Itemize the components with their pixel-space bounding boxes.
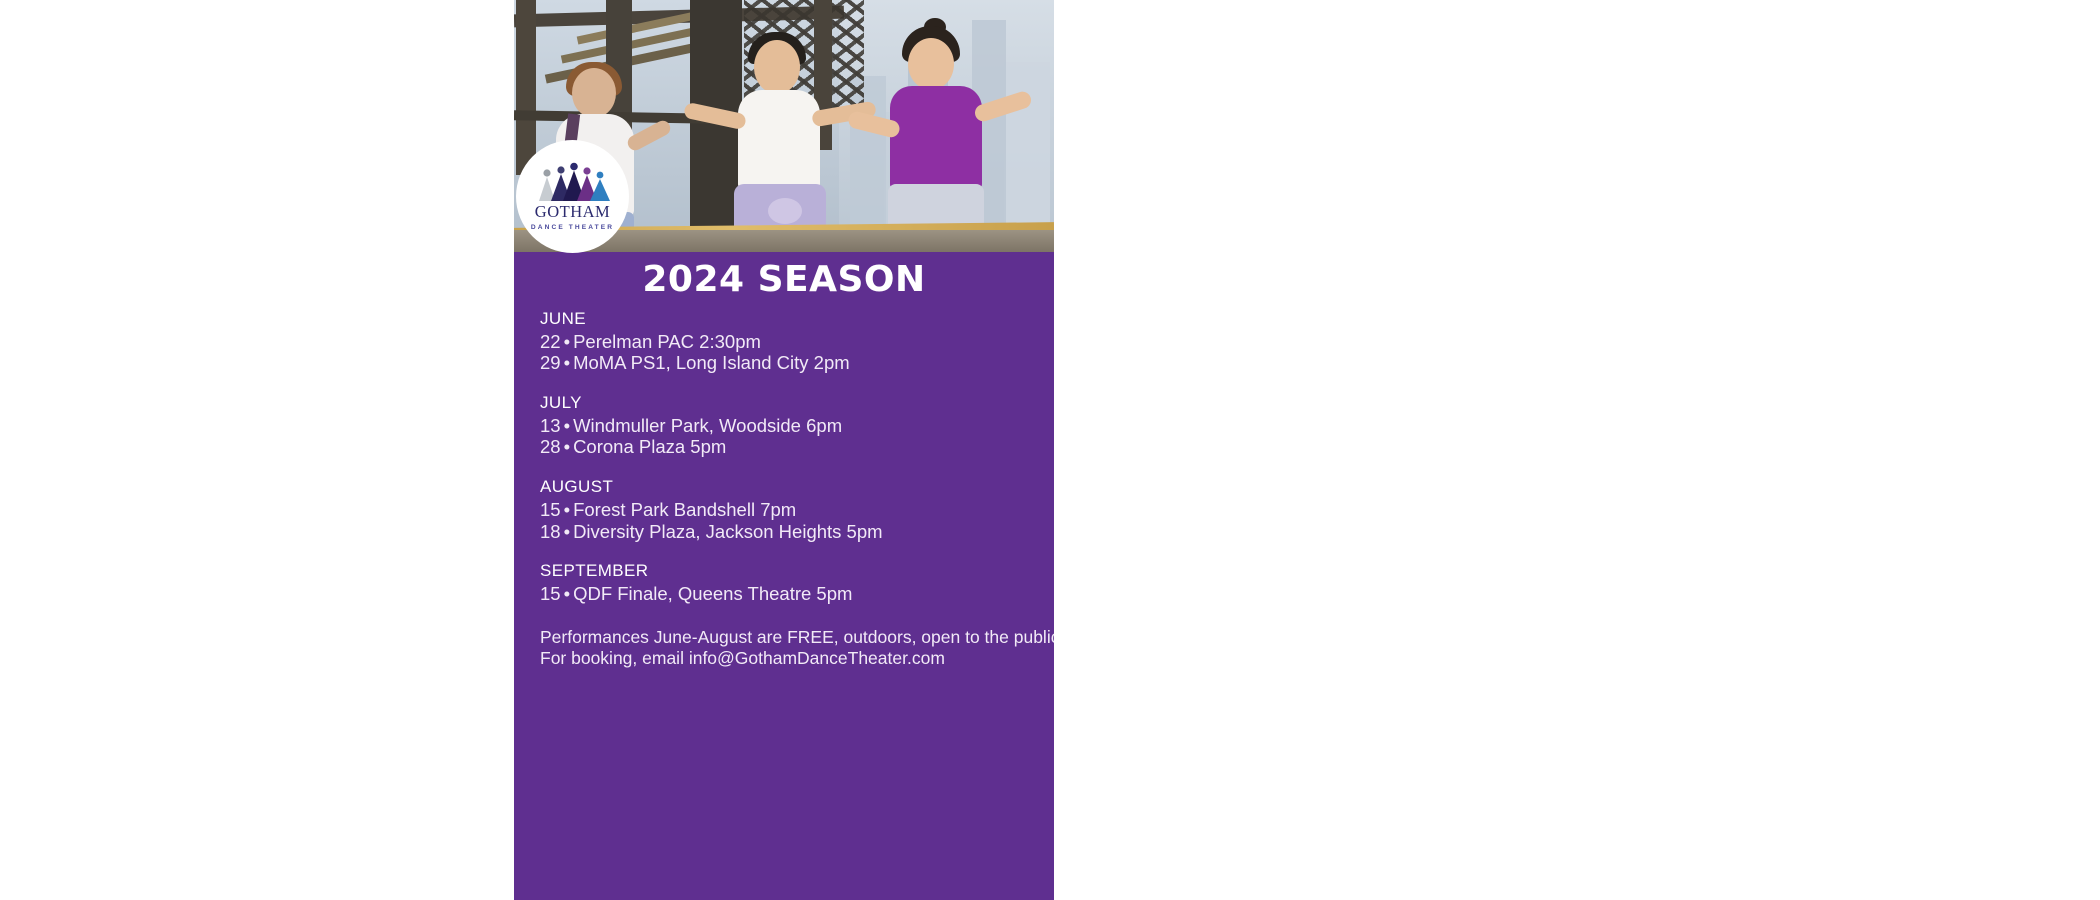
event-detail: Forest Park Bandshell 7pm — [573, 499, 796, 520]
month-heading: AUGUST — [540, 476, 1028, 499]
event-line: 13•Windmuller Park, Woodside 6pm — [540, 415, 1028, 437]
season-info-panel: 2024 SEASON JUNE22•Perelman PAC 2:30pm29… — [514, 252, 1054, 900]
footer-line: For booking, email info@GothamDanceTheat… — [540, 648, 1028, 669]
event-day: 28 — [540, 436, 561, 457]
event-detail: Diversity Plaza, Jackson Heights 5pm — [573, 521, 882, 542]
event-line: 28•Corona Plaza 5pm — [540, 436, 1028, 458]
month-list: JUNE22•Perelman PAC 2:30pm29•MoMA PS1, L… — [540, 308, 1028, 605]
event-day: 18 — [540, 521, 561, 542]
month-block: SEPTEMBER15•QDF Finale, Queens Theatre 5… — [540, 560, 1028, 605]
bullet-separator-icon: • — [561, 331, 573, 352]
event-day: 22 — [540, 331, 561, 352]
event-detail: Perelman PAC 2:30pm — [573, 331, 761, 352]
event-line: 15•Forest Park Bandshell 7pm — [540, 499, 1028, 521]
month-block: AUGUST15•Forest Park Bandshell 7pm18•Div… — [540, 476, 1028, 542]
footer-notes: Performances June-August are FREE, outdo… — [540, 627, 1028, 669]
event-line: 18•Diversity Plaza, Jackson Heights 5pm — [540, 521, 1028, 543]
event-line: 29•MoMA PS1, Long Island City 2pm — [540, 352, 1028, 374]
page-title: 2024 SEASON — [540, 260, 1028, 300]
event-detail: MoMA PS1, Long Island City 2pm — [573, 352, 850, 373]
event-line: 15•QDF Finale, Queens Theatre 5pm — [540, 583, 1028, 605]
dancer-right — [852, 24, 1032, 252]
crown-of-figures-icon — [534, 162, 612, 202]
bullet-separator-icon: • — [561, 436, 573, 457]
dancer-center — [682, 22, 878, 252]
bullet-separator-icon: • — [561, 499, 573, 520]
season-poster: GOTHAM DANCE THEATER 2024 SEASON JUNE22•… — [514, 0, 1054, 900]
event-detail: Windmuller Park, Woodside 6pm — [573, 415, 842, 436]
bullet-separator-icon: • — [561, 583, 573, 604]
event-detail: Corona Plaza 5pm — [573, 436, 726, 457]
event-line: 22•Perelman PAC 2:30pm — [540, 331, 1028, 353]
month-heading: SEPTEMBER — [540, 560, 1028, 583]
month-heading: JUNE — [540, 308, 1028, 331]
month-heading: JULY — [540, 392, 1028, 415]
event-detail: QDF Finale, Queens Theatre 5pm — [573, 583, 852, 604]
month-block: JUNE22•Perelman PAC 2:30pm29•MoMA PS1, L… — [540, 308, 1028, 374]
logo-wordmark: GOTHAM — [535, 204, 610, 221]
event-day: 15 — [540, 583, 561, 604]
bullet-separator-icon: • — [561, 352, 573, 373]
footer-line: Performances June-August are FREE, outdo… — [540, 627, 1028, 648]
event-day: 13 — [540, 415, 561, 436]
logo-tagline: DANCE THEATER — [531, 224, 614, 231]
gotham-dance-theater-logo: GOTHAM DANCE THEATER — [516, 140, 629, 253]
bullet-separator-icon: • — [561, 521, 573, 542]
event-day: 15 — [540, 499, 561, 520]
event-day: 29 — [540, 352, 561, 373]
month-block: JULY13•Windmuller Park, Woodside 6pm28•C… — [540, 392, 1028, 458]
bullet-separator-icon: • — [561, 415, 573, 436]
